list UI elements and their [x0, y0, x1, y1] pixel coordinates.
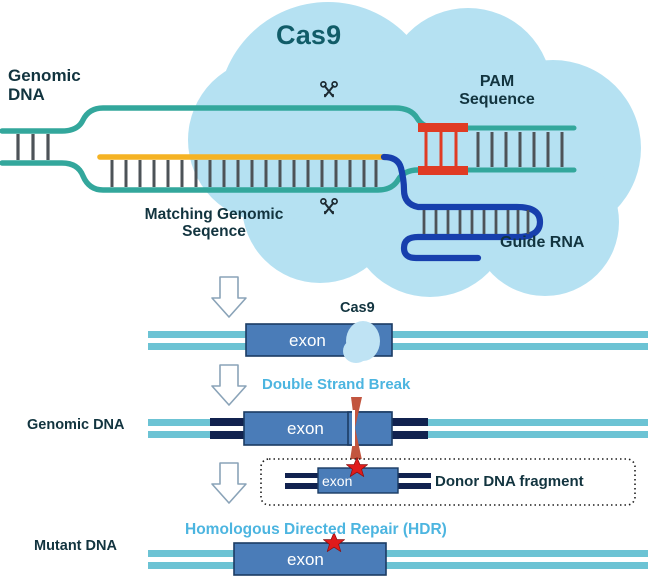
step-1-dna-row [148, 324, 648, 356]
mutant-dna-row-label: Mutant DNA [34, 538, 117, 554]
exon-label-step-3: exon [287, 550, 324, 570]
cas9-blob-label: Cas9 [340, 300, 375, 316]
matching-genomic-sequence-label: Matching Genomic Seqence [104, 206, 324, 241]
step-2-dna-row [148, 412, 648, 445]
genomic-dna-label-top: Genomic DNA [8, 66, 81, 104]
donor-dna-fragment-label: Donor DNA fragment [435, 474, 584, 491]
exon-label-step-1: exon [289, 331, 326, 351]
guide-rna-label: Guide RNA [500, 234, 584, 252]
flow-arrow-2 [212, 365, 246, 405]
left-duplex-base-pairs [18, 134, 48, 160]
cas9-title: Cas9 [276, 20, 341, 50]
genomic-dna-row-label: Genomic DNA [27, 417, 125, 433]
cas9-protein-cloud [188, 2, 641, 297]
flow-arrow-1 [212, 277, 246, 317]
exon-label-donor: exon [322, 473, 352, 489]
flow-arrow-3 [212, 463, 246, 503]
hdr-label: Homologous Directed Repair (HDR) [185, 521, 447, 538]
double-strand-break-label: Double Strand Break [262, 377, 410, 394]
exon-label-step-2: exon [287, 419, 324, 439]
diagram-canvas: Cas9 Genomic DNA PAM Sequence Matching G… [0, 0, 650, 578]
downstream-base-pairs [478, 132, 562, 167]
step-3-dna-row [148, 543, 648, 575]
pam-sequence-label: PAM Sequence [437, 73, 557, 109]
